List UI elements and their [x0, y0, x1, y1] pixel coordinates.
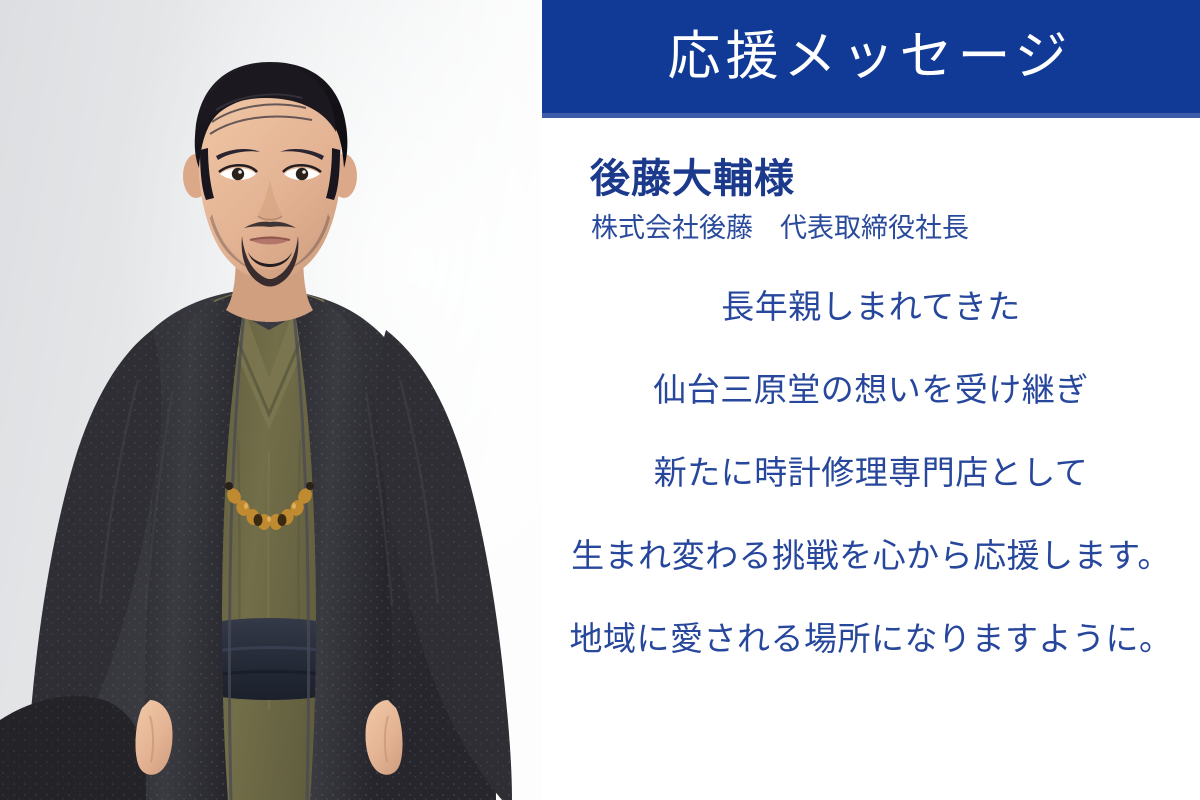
header-banner: 応援メッセージ — [542, 0, 1200, 113]
message-line: 生まれ変わる挑戦を心から応援します。 — [542, 539, 1200, 572]
banner-title: 応援メッセージ — [668, 30, 1075, 83]
portrait-illustration — [0, 0, 542, 800]
sender-name: 後藤大輔様 — [590, 158, 1190, 200]
message-body: 長年親しまれてきた 仙台三原堂の想いを受け継ぎ 新たに時計修理専門店として 生ま… — [542, 290, 1200, 655]
message-line: 仙台三原堂の想いを受け継ぎ — [542, 373, 1200, 406]
message-line: 新たに時計修理専門店として — [542, 456, 1200, 489]
message-pane: 応援メッセージ 後藤大輔様 株式会社後藤 代表取締役社長 長年親しまれてきた 仙… — [542, 0, 1200, 800]
sender-block: 後藤大輔様 株式会社後藤 代表取締役社長 — [590, 158, 1190, 244]
message-line: 長年親しまれてきた — [542, 290, 1200, 323]
portrait-photo — [0, 0, 542, 800]
banner-underline — [542, 113, 1200, 118]
sender-title: 株式会社後藤 代表取締役社長 — [591, 214, 1190, 244]
message-line: 地域に愛される場所になりますように。 — [542, 622, 1200, 655]
message-card: 応援メッセージ 後藤大輔様 株式会社後藤 代表取締役社長 長年親しまれてきた 仙… — [0, 0, 1200, 800]
